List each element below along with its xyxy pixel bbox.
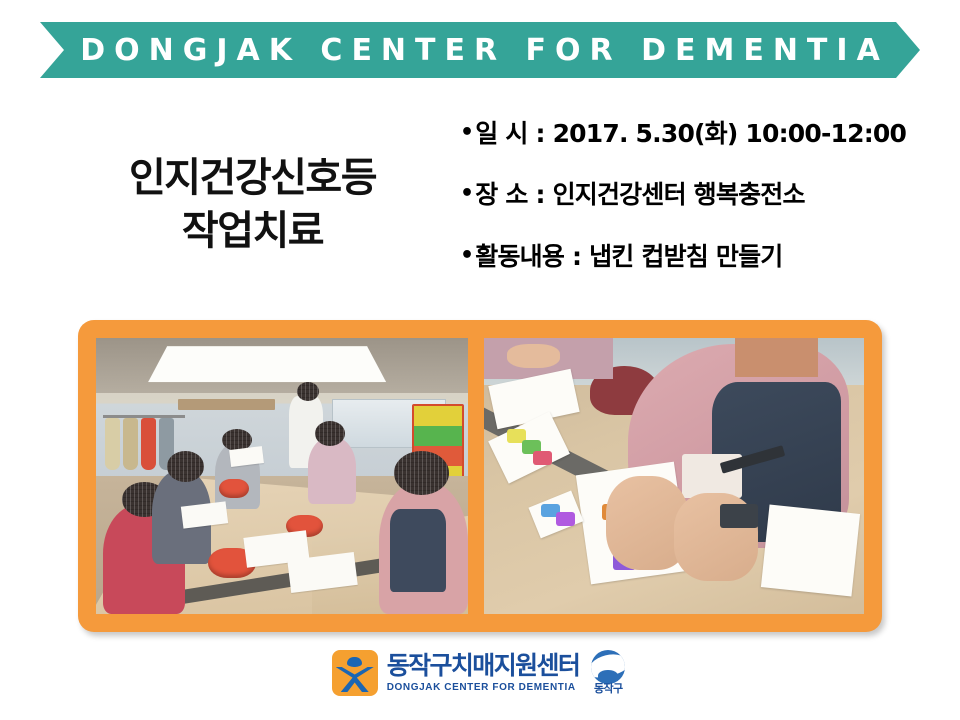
center-name-english: DONGJAK CENTER FOR DEMENTIA: [387, 683, 576, 693]
photo-craft-wristwatch: [720, 504, 758, 529]
photo-craft-background-hand: [507, 344, 560, 369]
photo-classroom-participant-head: [315, 421, 345, 446]
photo-craft-sticker: [556, 512, 575, 526]
program-title-line-2: 작업치료: [60, 205, 445, 258]
dongjak-gu-label: 동작구: [588, 680, 628, 696]
bullet-icon: •: [460, 241, 473, 271]
logo-figure-head-icon: [347, 657, 362, 667]
photo-classroom-skylight: [148, 346, 386, 382]
dongjak-gu-emblem-icon: [591, 650, 625, 684]
event-detail-activity: • 활동내용 : 냅킨 컵받침 만들기: [460, 241, 930, 272]
center-logo-text: 동작구치매지원센터 DONGJAK CENTER FOR DEMENTIA: [387, 653, 580, 693]
event-detail-location-text: 장 소 : 인지건강센터 행복충전소: [475, 179, 804, 210]
program-title-line-1: 인지건강신호등: [129, 155, 376, 201]
poster-page: DONGJAK CENTER FOR DEMENTIA 인지건강신호등 작업치료…: [0, 0, 960, 720]
center-logo-icon: [332, 650, 378, 696]
event-detail-location: • 장 소 : 인지건강센터 행복충전소: [460, 179, 930, 210]
center-name-korean: 동작구치매지원센터: [387, 653, 580, 678]
event-detail-activity-text: 활동내용 : 냅킨 컵받침 만들기: [475, 241, 782, 272]
bullet-icon: •: [460, 179, 473, 209]
bullet-icon: •: [460, 118, 473, 148]
photo-classroom: [96, 338, 468, 614]
photo-classroom-shelf: [178, 399, 275, 410]
photo-classroom-participant: [308, 437, 356, 503]
banner-title: DONGJAK CENTER FOR DEMENTIA: [71, 33, 889, 68]
photo-classroom-bowl: [219, 479, 249, 498]
banner-shape: DONGJAK CENTER FOR DEMENTIA: [40, 22, 920, 78]
dongjak-gu-emblem: 동작구: [588, 650, 628, 696]
header-banner: DONGJAK CENTER FOR DEMENTIA: [40, 22, 920, 78]
photo-classroom-participant-head: [167, 451, 204, 481]
footer-logo: 동작구치매지원센터 DONGJAK CENTER FOR DEMENTIA 동작…: [0, 645, 960, 701]
photo-craft-closeup: [484, 338, 864, 614]
event-detail-datetime: • 일 시 : 2017. 5.30(화) 10:00-12:00: [460, 118, 930, 149]
photo-craft-paper: [761, 505, 860, 597]
program-title: 인지건강신호등 작업치료: [60, 152, 445, 258]
event-detail-datetime-text: 일 시 : 2017. 5.30(화) 10:00-12:00: [475, 118, 906, 149]
photo-craft-person-face: [735, 338, 819, 377]
photo-craft-sticker: [533, 451, 552, 465]
logo-figure-legs-icon: [341, 675, 369, 692]
photo-gallery-frame: [78, 320, 882, 632]
photo-classroom-participant-apron: [390, 509, 446, 592]
event-details-list: • 일 시 : 2017. 5.30(화) 10:00-12:00 • 장 소 …: [460, 118, 930, 302]
